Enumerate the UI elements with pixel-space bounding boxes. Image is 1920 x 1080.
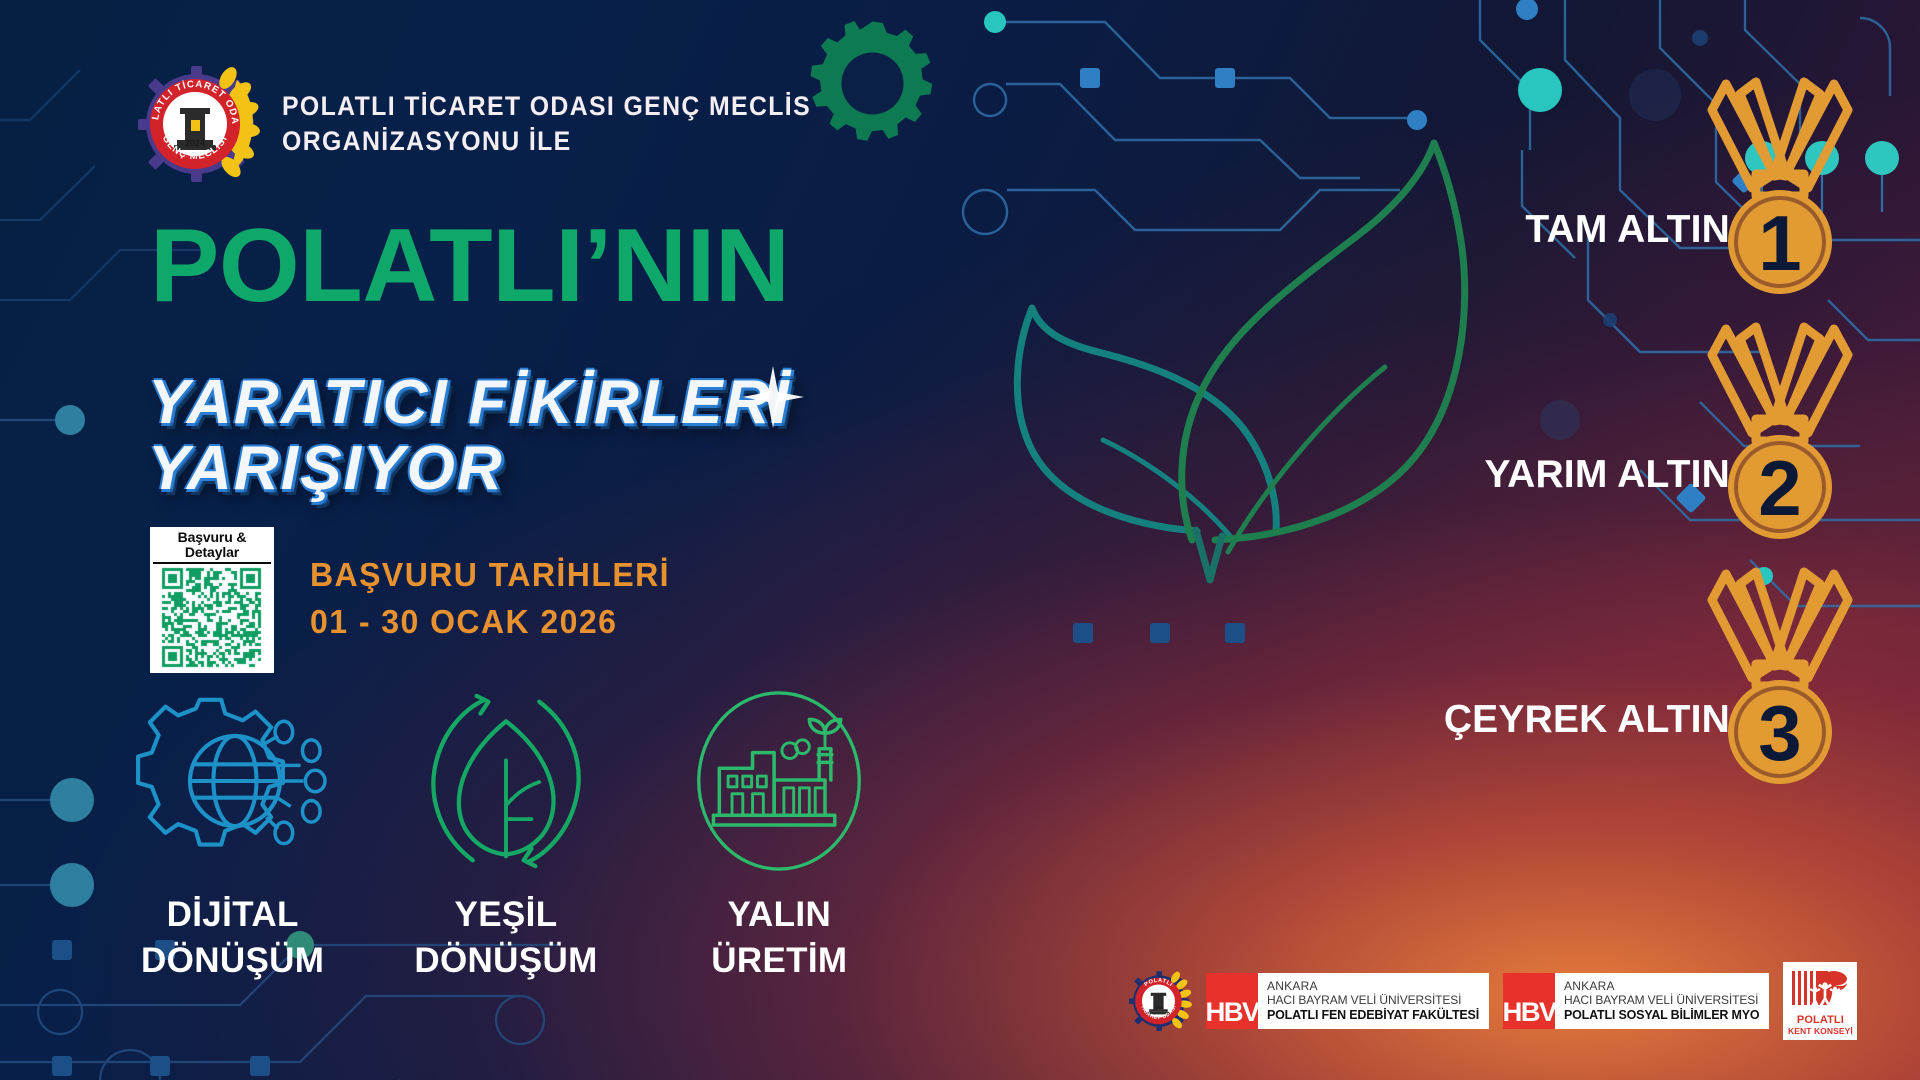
organizer-title: POLATLI TİCARET ODASI GENÇ MECLİS ORGANİ… <box>282 89 811 158</box>
prizes-list: TAM ALTIN 1 YARIM ALTIN <box>1276 70 1856 805</box>
hbv-mark-text: HBV <box>1206 999 1258 1026</box>
sponsors-row: 1966 POLATLI TİCARET ODASI HBV ANKARA HA… <box>1128 962 1857 1040</box>
kent-konseyi-emblem <box>1789 967 1851 1015</box>
kent-konseyi-line-2: KENT KONSEYİ <box>1788 1027 1853 1036</box>
prize-label: ÇEYREK ALTIN <box>1444 698 1730 742</box>
gear-globe-network-icon <box>135 690 331 872</box>
medal-icon: 3 <box>1690 560 1870 790</box>
header: 2024 POLATLI TİCARET ODASI GENÇ MECLİSİ … <box>136 62 857 186</box>
sponsor-hbv-sosyal-bilimler: HBV ANKARA HACI BAYRAM VELİ ÜNİVERSİTESİ… <box>1503 973 1769 1029</box>
pto-year: 1966 <box>1153 1005 1164 1010</box>
page-title-sub-line1: YARATICI FİKİRLERİ <box>148 370 791 436</box>
polatli-ticaret-odasi-genc-meclisi-logo: 2024 POLATLI TİCARET ODASI GENÇ MECLİSİ <box>136 62 260 186</box>
qr-code-image[interactable] <box>153 567 271 669</box>
logo-year: 2024 <box>185 138 205 148</box>
application-dates: BAŞVURU TARİHLERİ 01 - 30 OCAK 2026 <box>310 552 681 646</box>
sponsor-line-2: HACI BAYRAM VELİ ÜNİVERSİTESİ <box>1267 993 1479 1007</box>
medal-icon: 2 <box>1690 315 1870 545</box>
pillars-row: DİJİTAL DÖNÜŞÜM YEŞİL DÖNÜŞÜM <box>96 690 916 984</box>
prize-rank: 1 <box>1758 199 1801 287</box>
application-dates-label: BAŞVURU TARİHLERİ <box>310 552 670 599</box>
hbv-mark: HBV <box>1503 973 1555 1029</box>
sponsor-hbv-fen-edebiyat: HBV ANKARA HACI BAYRAM VELİ ÜNİVERSİTESİ… <box>1206 973 1489 1029</box>
hbv-mark-text: HBV <box>1503 999 1555 1026</box>
factory-eco-icon <box>690 690 868 872</box>
sponsor-line-3: POLATLI SOSYAL BİLİMLER MYO <box>1564 1008 1759 1023</box>
prize-item: ÇEYREK ALTIN 3 <box>1276 560 1856 805</box>
pillar-label: YALIN ÜRETİM <box>711 892 847 984</box>
prize-item: TAM ALTIN 1 <box>1276 70 1856 315</box>
application-dates-range: 01 - 30 OCAK 2026 <box>310 599 670 646</box>
page-title-sub-line2: YARIŞIYOR <box>148 436 791 502</box>
medal-icon: 1 <box>1690 70 1870 300</box>
kent-konseyi-line-1: POLATLI <box>1797 1015 1844 1027</box>
sponsor-line-1: ANKARA <box>1564 979 1759 993</box>
sponsor-polatli-kent-konseyi: POLATLI KENT KONSEYİ <box>1783 962 1857 1040</box>
sponsor-line-2: HACI BAYRAM VELİ ÜNİVERSİTESİ <box>1564 993 1759 1007</box>
prize-rank: 3 <box>1758 689 1801 777</box>
prize-item: YARIM ALTIN 2 <box>1276 315 1856 560</box>
page-title-main: POLATLI’NIN <box>150 216 789 318</box>
pillar-dijital-donusum: DİJİTAL DÖNÜŞÜM <box>96 690 369 984</box>
pillar-label: YEŞİL DÖNÜŞÜM <box>414 892 597 984</box>
leaf-recycle-arrows-icon <box>416 690 596 872</box>
qr-caption: Başvuru & Detaylar <box>153 530 271 564</box>
sponsor-line-3: POLATLI FEN EDEBİYAT FAKÜLTESİ <box>1267 1008 1479 1023</box>
polatli-ticaret-odasi-logo: 1966 POLATLI TİCARET ODASI <box>1128 969 1192 1033</box>
qr-code-block[interactable]: Başvuru & Detaylar <box>150 527 274 673</box>
hbv-mark: HBV <box>1206 973 1258 1029</box>
pillar-yesil-donusum: YEŞİL DÖNÜŞÜM <box>369 690 642 984</box>
pillar-yalin-uretim: YALIN ÜRETİM <box>643 690 916 984</box>
pillar-label: DİJİTAL DÖNÜŞÜM <box>141 892 324 984</box>
prize-rank: 2 <box>1758 444 1801 532</box>
page-title-sub: YARATICI FİKİRLERİ YARIŞIYOR <box>148 370 791 503</box>
sponsor-line-1: ANKARA <box>1267 979 1479 993</box>
poster-canvas: 2024 POLATLI TİCARET ODASI GENÇ MECLİSİ … <box>0 0 1920 1080</box>
